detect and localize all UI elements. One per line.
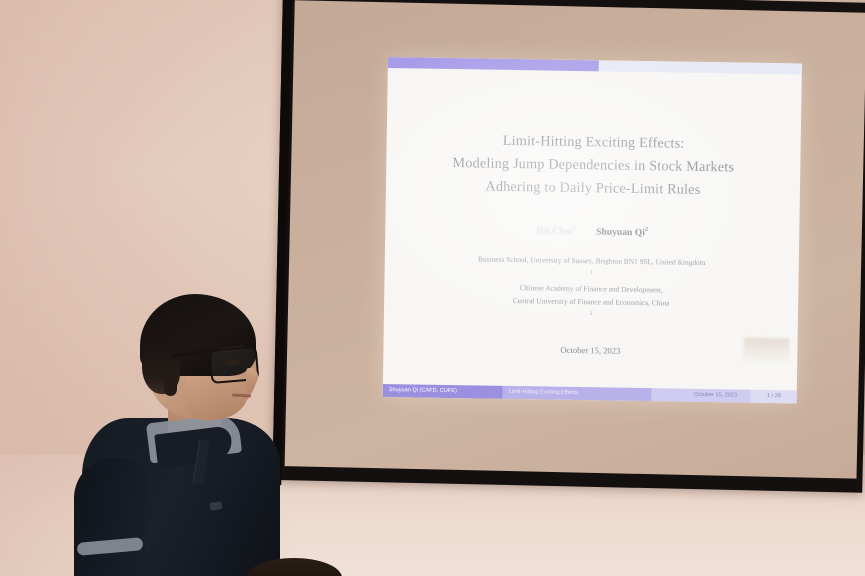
slide-affiliations: Business School, University of Sussex, B… <box>477 253 706 325</box>
slide-title-line-3: Adhering to Daily Price-Limit Rules <box>452 175 734 202</box>
author-1: Bin Chen1 <box>536 224 576 237</box>
projected-slide: Limit-Hitting Exciting Effects: Modeling… <box>383 57 802 403</box>
presenter <box>60 290 310 576</box>
author-2: Shuyuan Qi2 <box>596 225 648 238</box>
presenter-nose <box>246 368 258 385</box>
affiliation-1-marker: 1 <box>590 271 593 276</box>
affiliation-3: Central University of Finance and Econom… <box>477 294 705 325</box>
footline-page-number: 1 / 29 <box>751 390 797 404</box>
presenter-shirt-logo <box>210 501 223 511</box>
footline-author: Shuyuan Qi (CAFD, CUFE) <box>383 384 503 399</box>
affiliation-1-text: Business School, University of Sussex, B… <box>478 253 706 270</box>
projector-glare-artifact <box>743 338 789 365</box>
slide-authors: Bin Chen1 Shuyuan Qi2 <box>536 224 648 238</box>
affiliation-3-marker: 2 <box>590 312 593 317</box>
slide-date: October 15, 2023 <box>560 344 620 355</box>
affiliation-3-text: Central University of Finance and Econom… <box>477 294 705 311</box>
author-2-name: Shuyuan Qi <box>596 226 645 238</box>
author-1-name: Bin Chen <box>536 226 573 238</box>
footline-title: Limit-Hitting Exciting Effects <box>503 386 652 401</box>
presenter-shoulder <box>74 458 146 576</box>
footline-date: October 15, 2023 <box>652 388 752 403</box>
conference-room-photo: Limit-Hitting Exciting Effects: Modeling… <box>0 0 865 576</box>
slide-title: Limit-Hitting Exciting Effects: Modeling… <box>452 129 735 202</box>
author-1-marker: 1 <box>573 225 576 232</box>
author-2-marker: 2 <box>645 226 648 233</box>
slide-content: Limit-Hitting Exciting Effects: Modeling… <box>383 68 802 381</box>
affiliation-1: Business School, University of Sussex, B… <box>478 253 706 284</box>
presenter-sideburn <box>164 374 177 396</box>
